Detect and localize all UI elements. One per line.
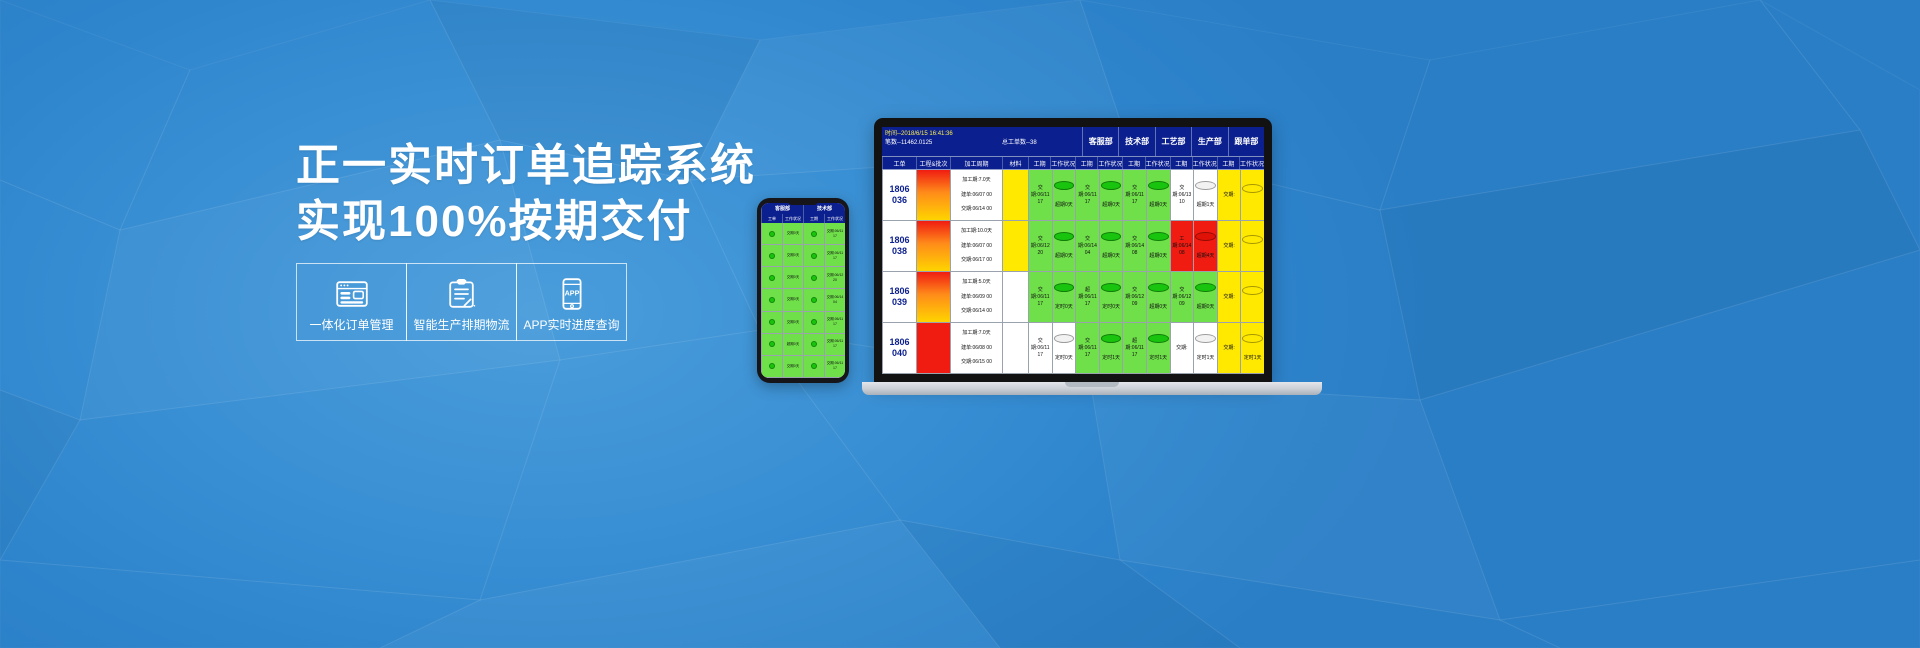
feature-item-app-progress-query[interactable]: APP APP实时进度查询 (516, 263, 627, 341)
status-indicator-dot (769, 253, 775, 259)
status-indicator-dot (769, 231, 775, 237)
material-status-cell (1002, 272, 1028, 322)
status-indicator-dot (1054, 283, 1075, 292)
laptop-device: 时间--2018/6/15 16:41:36 笔数--11462.0125 总工… (862, 118, 1322, 418)
headline-line-1: 正一实时订单追踪系统 (296, 138, 916, 194)
dept-header-followup: 跟单部 (1228, 127, 1264, 156)
cycle-info-cell: 加工期:7.0天建单:06/08 00交期:06/15 00 (950, 323, 1002, 373)
work-status-cell: 超期0天 (1052, 170, 1076, 220)
due-date-cell: 交期:06/11 17 (1028, 272, 1052, 322)
phone-dot-cell (761, 267, 782, 288)
batch-status-cell (916, 170, 950, 220)
phone-dot-cell-2 (803, 267, 824, 288)
laptop-trackpad-notch (1065, 382, 1119, 387)
work-status-cell: 定时1天 (1193, 323, 1217, 373)
phone-date-cell: 交期:06/14 04 (824, 289, 845, 310)
batch-status-cell (916, 272, 950, 322)
due-date-cell: 交期:06/12 09 (1122, 272, 1146, 322)
phone-dot-cell (761, 245, 782, 266)
phone-dot-cell-2 (803, 245, 824, 266)
status-indicator-dot (1242, 235, 1263, 244)
order-number-cell: 1806040 (882, 323, 916, 373)
phone-dot-cell-2 (803, 289, 824, 310)
phone-dot-cell (761, 312, 782, 333)
work-status-cell: 超期0天 (1146, 221, 1170, 271)
phone-date-cell: 交期:06/11 17 (824, 223, 845, 244)
dept-header-customer-service: 客服部 (1082, 127, 1118, 156)
phone-status-cell: 交期0天 (782, 312, 803, 333)
status-indicator-dot (1148, 283, 1169, 292)
status-indicator-dot (1242, 334, 1263, 343)
due-date-cell: 交期: (1217, 323, 1241, 373)
list-item[interactable]: 交期0天交期:06/11 17 (761, 356, 845, 378)
status-indicator-dot (1195, 334, 1216, 343)
due-date-cell: 交期:06/12 20 (1028, 221, 1052, 271)
column-header-10: 工期 (1170, 157, 1192, 169)
status-indicator-dot (1148, 334, 1169, 343)
dept-header-production: 生产部 (1191, 127, 1227, 156)
clock-label: 时间--2018/6/15 16:41:36 (885, 130, 1000, 139)
status-indicator-dot (811, 253, 817, 259)
phone-date-cell: 交期:06/11 17 (824, 312, 845, 333)
table-row[interactable]: 1806040加工期:7.0天建单:06/08 00交期:06/15 00交期:… (882, 323, 1264, 374)
phone-date-cell: 交期:06/11 17 (824, 245, 845, 266)
status-indicator-dot (1195, 181, 1216, 190)
phone-dot-cell-2 (803, 223, 824, 244)
batch-status-cell (916, 323, 950, 373)
phone-col-0: 工单 (761, 214, 782, 223)
status-indicator-dot (1101, 181, 1122, 190)
status-indicator-dot (811, 319, 817, 325)
column-header-13: 工作状况 (1239, 157, 1264, 169)
list-item[interactable]: 交期0天交期:06/11 17 (761, 223, 845, 245)
work-status-cell: 超期0天 (1193, 272, 1217, 322)
status-indicator-dot (769, 341, 775, 347)
work-status-cell (1240, 221, 1264, 271)
dashboard-window-icon (336, 277, 368, 311)
status-indicator-dot (1148, 181, 1169, 190)
phone-status-cell: 交期0天 (782, 223, 803, 244)
due-date-cell: 交期: (1170, 323, 1194, 373)
order-number-cell: 1806036 (882, 170, 916, 220)
work-status-cell: 超期0天 (1052, 221, 1076, 271)
work-status-cell: 定时1天 (1099, 323, 1123, 373)
cycle-info-cell: 加工期:5.0天建单:06/09 00交期:06/14 00 (950, 272, 1002, 322)
phone-dot-cell (761, 334, 782, 355)
work-status-cell: 定时0天 (1052, 272, 1076, 322)
feature-item-order-management[interactable]: 一体化订单管理 (296, 263, 407, 341)
phone-column-header: 工单 工作状况 工期 工作状况 (761, 214, 845, 223)
column-header-5: 工作状况 (1050, 157, 1075, 169)
status-indicator-dot (1242, 286, 1263, 295)
order-number-cell: 1806039 (882, 272, 916, 322)
status-indicator-dot (1195, 283, 1216, 292)
list-item[interactable]: 交期0天交期:06/14 04 (761, 289, 845, 311)
smartphone-device: 客服部 技术部 工单 工作状况 工期 工作状况 交期0天交期:06/11 17交… (757, 198, 849, 383)
phone-dot-cell-2 (803, 312, 824, 333)
phone-dot-cell (761, 223, 782, 244)
status-indicator-dot (1054, 232, 1075, 241)
work-status-cell: 超期4天 (1193, 221, 1217, 271)
batch-status-cell (916, 221, 950, 271)
work-status-cell: 超期0天 (1146, 170, 1170, 220)
table-row[interactable]: 1806039加工期:5.0天建单:06/09 00交期:06/14 00交期:… (882, 272, 1264, 323)
work-status-cell: 定时0天 (1052, 323, 1076, 373)
phone-dot-cell-2 (803, 334, 824, 355)
due-date-cell: 交期: (1217, 272, 1241, 322)
status-indicator-dot (769, 275, 775, 281)
column-header-1: 工程&批次 (916, 157, 950, 169)
total-orders-label: 总工单数--38 (1002, 127, 1082, 156)
order-tracking-dashboard[interactable]: 时间--2018/6/15 16:41:36 笔数--11462.0125 总工… (882, 127, 1264, 374)
column-header-12: 工期 (1217, 157, 1239, 169)
column-header-7: 工作状况 (1097, 157, 1122, 169)
material-status-cell (1002, 170, 1028, 220)
status-indicator-dot (1242, 184, 1263, 193)
column-header-8: 工期 (1122, 157, 1144, 169)
feature-label: 智能生产排期物流 (413, 318, 509, 332)
status-indicator-dot (1101, 334, 1122, 343)
status-indicator-dot (769, 319, 775, 325)
table-row[interactable]: 1806038加工期:10.0天建单:06/07 00交期:06/17 00交期… (882, 221, 1264, 272)
table-row[interactable]: 1806036加工期:7.0天建单:06/07 00交期:06/14 00交期:… (882, 170, 1264, 221)
feature-label: 一体化订单管理 (309, 318, 393, 332)
due-date-cell: 交期:06/11 17 (1122, 170, 1146, 220)
feature-label: APP实时进度查询 (523, 318, 619, 332)
phone-col-3: 工作状况 (824, 214, 845, 223)
laptop-lid: 时间--2018/6/15 16:41:36 笔数--11462.0125 总工… (874, 118, 1272, 384)
due-date-cell: 交期:06/11 17 (1075, 323, 1099, 373)
due-date-cell: 交期:06/11 17 (1028, 323, 1052, 373)
work-status-cell (1240, 272, 1264, 322)
dept-header-technical: 技术部 (1118, 127, 1154, 156)
status-indicator-dot (811, 341, 817, 347)
work-status-cell: 超期0天 (1146, 272, 1170, 322)
status-indicator-dot (811, 363, 817, 369)
status-indicator-dot (1101, 232, 1122, 241)
list-item[interactable]: 超期0天交期:06/11 17 (761, 334, 845, 356)
column-header-4: 工期 (1028, 157, 1050, 169)
due-date-cell: 交期:06/13 10 (1170, 170, 1194, 220)
status-indicator-dot (811, 231, 817, 237)
phone-status-cell: 交期0天 (782, 356, 803, 377)
list-item[interactable]: 交期0天交期:06/11 17 (761, 245, 845, 267)
column-header-2: 加工周期 (950, 157, 1002, 169)
column-header-3: 材料 (1002, 157, 1028, 169)
due-date-cell: 交期:06/12 09 (1170, 272, 1194, 322)
column-header-6: 工期 (1075, 157, 1097, 169)
phone-table-body[interactable]: 交期0天交期:06/11 17交期0天交期:06/11 17交期0天交期:06/… (761, 223, 845, 378)
due-date-cell: 交期:06/11 17 (1028, 170, 1052, 220)
column-header-11: 工作状况 (1192, 157, 1217, 169)
column-header-0: 工单 (882, 157, 916, 169)
work-status-cell: 超期0天 (1099, 170, 1123, 220)
due-date-cell: 超期:06/11 17 (1122, 323, 1146, 373)
phone-dot-cell (761, 356, 782, 377)
phone-status-cell: 交期0天 (782, 245, 803, 266)
laptop-screen[interactable]: 时间--2018/6/15 16:41:36 笔数--11462.0125 总工… (882, 127, 1264, 374)
phone-date-cell: 交期:06/11 17 (824, 334, 845, 355)
status-indicator-dot (1054, 334, 1075, 343)
dashboard-table-body[interactable]: 1806036加工期:7.0天建单:06/07 00交期:06/14 00交期:… (882, 170, 1264, 374)
count-label: 笔数--11462.0125 (885, 139, 1000, 148)
due-date-cell: 交期:06/14 04 (1075, 221, 1099, 271)
phone-col-1: 工作状况 (782, 214, 803, 223)
phone-date-cell: 交期:06/11 17 (824, 356, 845, 377)
order-number-cell: 1806038 (882, 221, 916, 271)
due-date-cell: 超期:06/11 17 (1075, 272, 1099, 322)
status-indicator-dot (811, 275, 817, 281)
dept-header-process: 工艺部 (1155, 127, 1191, 156)
phone-col-2: 工期 (803, 214, 824, 223)
phone-notch (788, 201, 818, 205)
phone-date-cell: 交期:06/12 20 (824, 267, 845, 288)
cycle-info-cell: 加工期:7.0天建单:06/07 00交期:06/14 00 (950, 170, 1002, 220)
svg-text:APP: APP (564, 288, 579, 297)
phone-screen[interactable]: 客服部 技术部 工单 工作状况 工期 工作状况 交期0天交期:06/11 17交… (761, 203, 845, 378)
phone-status-cell: 交期0天 (782, 267, 803, 288)
status-indicator-dot (1195, 232, 1216, 241)
cycle-info-cell: 加工期:10.0天建单:06/07 00交期:06/17 00 (950, 221, 1002, 271)
status-indicator-dot (769, 363, 775, 369)
phone-status-cell: 交期0天 (782, 289, 803, 310)
work-status-cell: 超期1天 (1193, 170, 1217, 220)
due-date-cell: 交期:06/11 17 (1075, 170, 1099, 220)
status-indicator-dot (769, 297, 775, 303)
material-status-cell (1002, 221, 1028, 271)
list-item[interactable]: 交期0天交期:06/11 17 (761, 312, 845, 334)
due-date-cell: 交期:06/14 08 (1122, 221, 1146, 271)
mobile-app-icon: APP (561, 277, 583, 311)
due-date-cell: 工期:06/14 08 (1170, 221, 1194, 271)
work-status-cell: 定时0天 (1099, 272, 1123, 322)
work-status-cell: 定时1天 (1240, 323, 1264, 373)
dashboard-topbar: 时间--2018/6/15 16:41:36 笔数--11462.0125 总工… (882, 127, 1264, 157)
list-item[interactable]: 交期0天交期:06/12 20 (761, 267, 845, 289)
clipboard-edit-icon (447, 277, 476, 311)
phone-dot-cell (761, 289, 782, 310)
due-date-cell: 交期: (1217, 221, 1241, 271)
material-status-cell (1002, 323, 1028, 373)
feature-list: 一体化订单管理 智能生产排期物流 APP (296, 263, 626, 341)
feature-item-production-scheduling[interactable]: 智能生产排期物流 (406, 263, 517, 341)
status-indicator-dot (1148, 232, 1169, 241)
dashboard-meta: 时间--2018/6/15 16:41:36 笔数--11462.0125 (882, 127, 1002, 156)
due-date-cell: 交期: (1217, 170, 1241, 220)
status-indicator-dot (1101, 283, 1122, 292)
status-indicator-dot (1054, 181, 1075, 190)
phone-status-cell: 超期0天 (782, 334, 803, 355)
work-status-cell: 定时1天 (1146, 323, 1170, 373)
status-indicator-dot (811, 297, 817, 303)
work-status-cell (1240, 170, 1264, 220)
dashboard-column-header: 工单工程&批次加工周期材料工期工作状况工期工作状况工期工作状况工期工作状况工期工… (882, 157, 1264, 170)
column-header-9: 工作状况 (1145, 157, 1170, 169)
phone-dot-cell-2 (803, 356, 824, 377)
work-status-cell: 超期0天 (1099, 221, 1123, 271)
